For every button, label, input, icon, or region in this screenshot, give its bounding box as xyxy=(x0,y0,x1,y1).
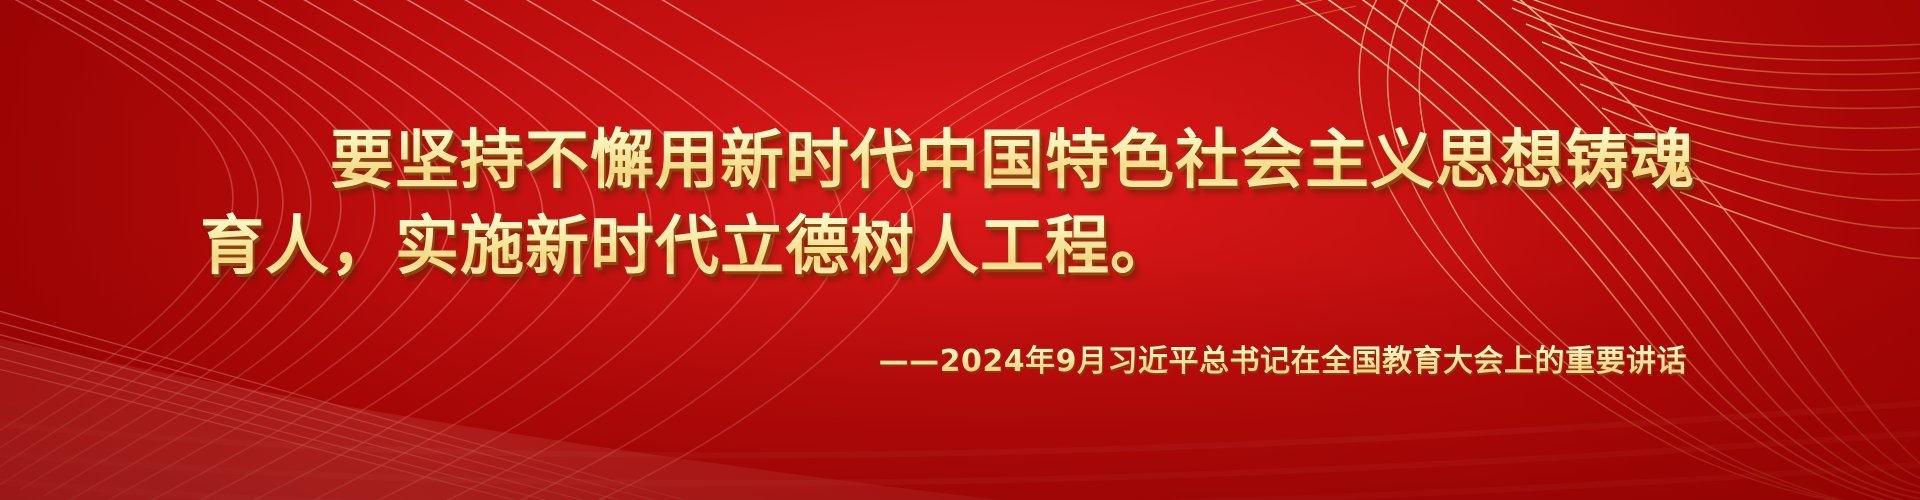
red-banner: 要坚持不懈用新时代中国特色社会主义思想铸魂 育人，实施新时代立德树人工程。 ——… xyxy=(0,0,1920,500)
quote-block: 要坚持不懈用新时代中国特色社会主义思想铸魂 育人，实施新时代立德树人工程。 xyxy=(200,118,1730,290)
banner-content: 要坚持不懈用新时代中国特色社会主义思想铸魂 育人，实施新时代立德树人工程。 ——… xyxy=(0,0,1920,500)
quote-line-1: 要坚持不懈用新时代中国特色社会主义思想铸魂 xyxy=(200,118,1730,204)
quote-line-2: 育人，实施新时代立德树人工程。 xyxy=(200,204,1730,290)
quote-attribution: ——2024年9月习近平总书记在全国教育大会上的重要讲话 xyxy=(200,342,1687,382)
